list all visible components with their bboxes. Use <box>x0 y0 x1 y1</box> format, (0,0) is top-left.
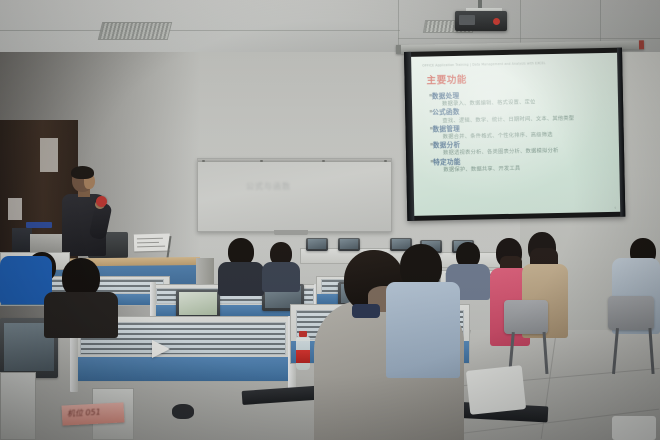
bottle-label <box>296 350 310 363</box>
slide-title: 主要功能 <box>426 69 611 87</box>
projector <box>455 11 507 31</box>
whiteboard-screw <box>260 160 263 163</box>
attendee-collar <box>352 304 380 318</box>
whiteboard-screw <box>202 160 205 163</box>
slide-section: ▪数据管理 数据合并、条件格式、个性化排序、高级筛选 <box>429 123 612 141</box>
slide-section: ▪公式函数 查找、逻辑、数学、统计、日期时间、文本、其他类型 <box>429 106 612 124</box>
chair[interactable] <box>608 296 654 330</box>
attendee-torso <box>262 262 300 292</box>
ceiling-seam <box>398 38 660 39</box>
computer-tower <box>0 372 36 440</box>
housing-end-cap <box>396 45 401 54</box>
presenter-hair <box>71 166 94 179</box>
chair-seat[interactable] <box>612 416 656 440</box>
seat-number-label: 机位 051 <box>62 402 125 425</box>
desk-blue-folder <box>26 222 52 228</box>
whiteboard: 公式与函数 <box>197 158 392 232</box>
bottle-cap <box>299 331 307 337</box>
classroom-photo: OFFICE Application Training | Data Manag… <box>0 0 660 440</box>
chair[interactable] <box>504 300 548 334</box>
monitor <box>176 290 220 318</box>
monitor <box>306 238 328 251</box>
wall-notice <box>8 198 22 220</box>
projector-lens <box>493 18 500 25</box>
bench-blue-panel <box>73 357 293 381</box>
folded-paper <box>152 340 170 358</box>
attendee-torso <box>44 292 118 338</box>
presenter-handheld-device <box>96 196 107 207</box>
projected-slide: OFFICE Application Training | Data Manag… <box>411 53 620 216</box>
ceiling-vent <box>98 22 172 40</box>
ceiling-seam <box>0 30 400 31</box>
housing-end-cap <box>639 40 644 49</box>
whiteboard-marker-tray <box>274 230 308 235</box>
slide-section: ▪数据分析 数据透视表分析、各类图表分析、数据模拟分析 <box>430 139 613 157</box>
projection-screen: OFFICE Application Training | Data Manag… <box>404 48 625 221</box>
attendee-torso <box>218 262 264 296</box>
seat-number-text: 机位 051 <box>67 407 101 420</box>
slide-section: ▪数据处理 数据录入、数据编辑、格式设置、定位 <box>429 90 612 108</box>
slide-header-text: OFFICE Application Training | Data Manag… <box>422 60 611 68</box>
monitor <box>338 238 360 251</box>
wall-poster <box>40 138 58 172</box>
slide-section: ▪特定功能 数据保护、数据共享、开发工具 <box>430 156 613 174</box>
mouse <box>172 404 194 419</box>
whiteboard-screw <box>384 160 387 163</box>
attendee-torso <box>386 282 460 378</box>
chair-seat[interactable] <box>466 365 526 415</box>
slide-page-number: 5 <box>614 207 616 210</box>
whiteboard-rail <box>198 159 391 162</box>
whiteboard-screw <box>322 160 325 163</box>
whiteboard-ghost-writing: 公式与函数 <box>246 181 291 192</box>
podium-handout <box>134 234 170 252</box>
